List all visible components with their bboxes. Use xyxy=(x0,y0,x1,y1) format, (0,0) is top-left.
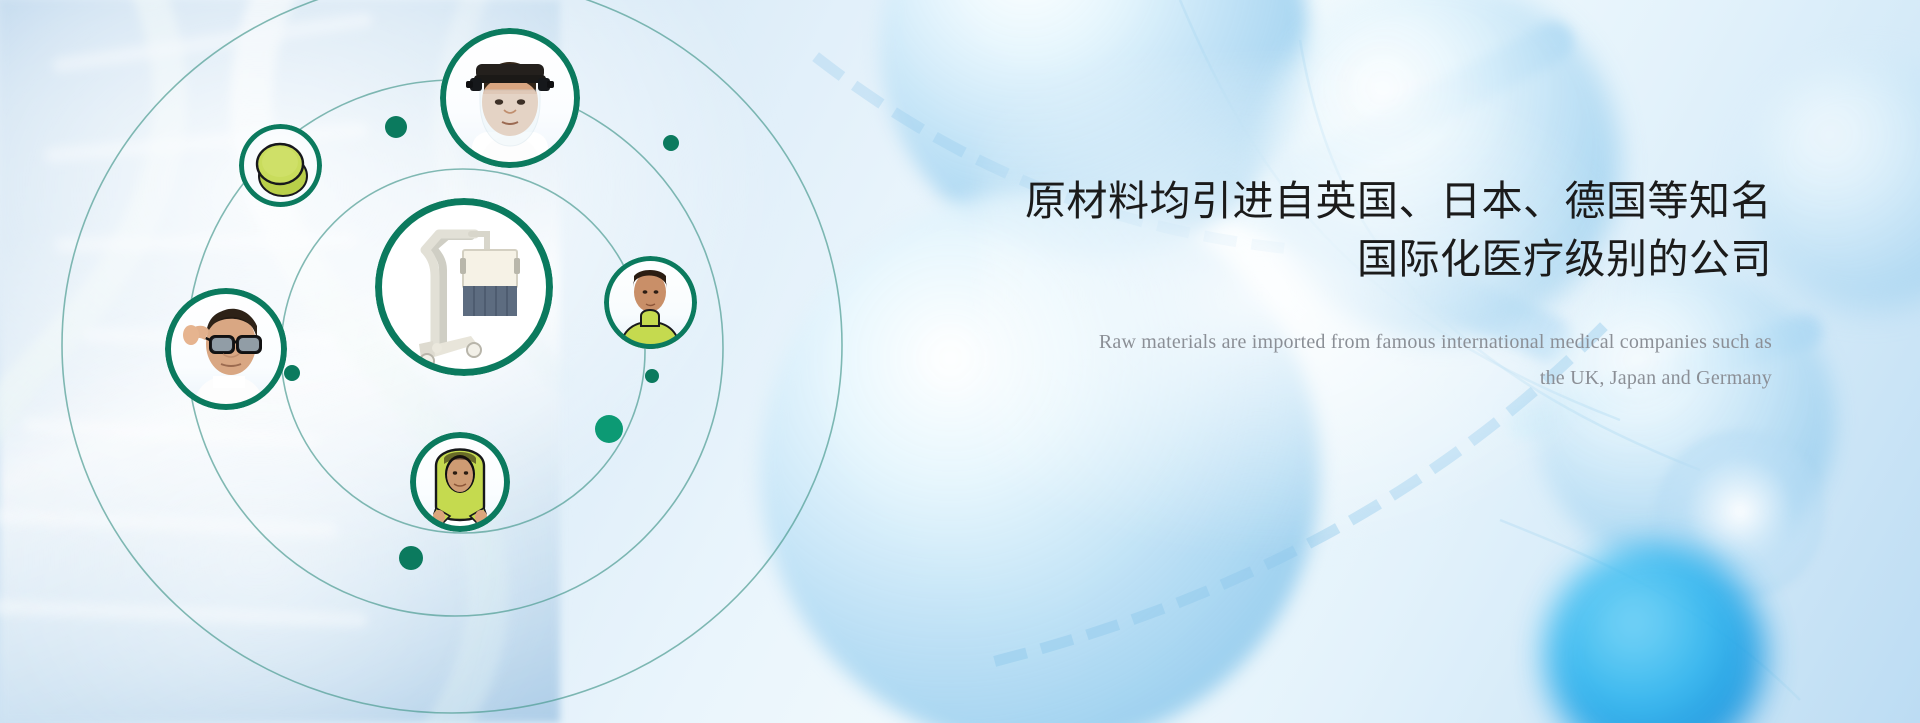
mobile-radiation-shield-icon xyxy=(375,198,553,376)
bubble-photo xyxy=(375,198,553,376)
face-shield-portrait xyxy=(440,28,580,168)
bubble-face-shield-man[interactable] xyxy=(440,28,580,168)
bubble-photo xyxy=(604,256,697,349)
headline-line-1: 原材料均引进自英国、日本、德国等知名 xyxy=(1025,178,1772,224)
bubble-photo xyxy=(440,28,580,168)
headline: 原材料均引进自英国、日本、德国等知名 国际化医疗级别的公司 xyxy=(992,172,1772,288)
orbit-dot xyxy=(595,415,623,443)
soft-atom-sphere xyxy=(1655,430,1825,600)
thyroid-collar-portrait xyxy=(604,256,697,349)
bubble-lead-cap-product[interactable] xyxy=(239,124,322,207)
orbit-dot xyxy=(284,365,300,381)
bubble-lead-glasses-man[interactable] xyxy=(165,288,287,410)
headline-line-2: 国际化医疗级别的公司 xyxy=(992,230,1772,288)
subtitle: Raw materials are imported from famous i… xyxy=(992,324,1772,396)
bubble-photo xyxy=(239,124,322,207)
bright-blue-atom xyxy=(1545,545,1765,723)
orbit-dot xyxy=(663,135,679,151)
bubble-photo xyxy=(165,288,287,410)
orbit-dot xyxy=(385,116,407,138)
orbit-dot xyxy=(645,369,659,383)
orbit-dot xyxy=(399,546,423,570)
bubble-lead-hood-woman[interactable] xyxy=(410,432,510,532)
lead-cap-icon xyxy=(239,124,322,207)
banner-copy: 原材料均引进自英国、日本、德国等知名 国际化医疗级别的公司 Raw materi… xyxy=(992,172,1772,396)
bubble-mobile-shield-product[interactable] xyxy=(375,198,553,376)
subtitle-line-1: Raw materials are imported from famous i… xyxy=(1099,331,1772,353)
subtitle-line-2: the UK, Japan and Germany xyxy=(992,360,1772,396)
bubble-thyroid-collar-woman[interactable] xyxy=(604,256,697,349)
promo-banner: 原材料均引进自英国、日本、德国等知名 国际化医疗级别的公司 Raw materi… xyxy=(0,0,1920,723)
lead-hood-portrait xyxy=(410,432,510,532)
lead-glasses-portrait xyxy=(165,288,287,410)
bubble-photo xyxy=(410,432,510,532)
